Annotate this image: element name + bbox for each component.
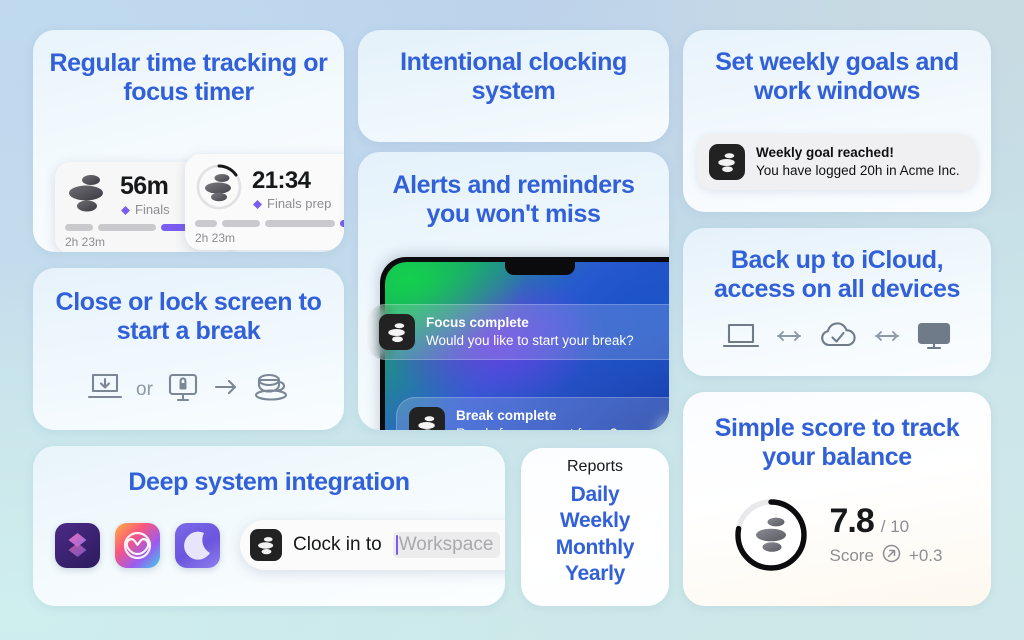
trend-up-icon [882,544,901,568]
card-balance-score: Simple score to track your balance 7 [683,392,991,606]
stones-logo-icon [65,171,111,220]
card-balance-score-title: Simple score to track your balance [695,414,979,472]
score-row: 7.8 / 10 Score +0.3 [683,496,991,574]
report-item-monthly[interactable]: Monthly [521,535,669,561]
control-center-app-icon[interactable] [115,523,160,568]
score-denominator: / 10 [881,517,909,537]
timer-widget-focus[interactable]: 21:34 Finals prep [185,154,344,250]
notification-body: You have logged 20h in Acme Inc. [756,162,960,179]
card-deep-integration-title: Deep system integration [49,468,489,497]
notification-title: Workspace window ended [768,196,949,212]
card-close-lock-break: Close or lock screen to start a break or [33,268,344,430]
alert-banner-break-complete[interactable]: Break complete Ready for your next focus… [396,397,669,430]
timer-widget-focus-tag: Finals prep [252,196,331,211]
tag-dot-icon [252,198,263,209]
score-label-row: Score +0.3 [830,544,943,568]
score-delta: +0.3 [909,546,943,566]
timer-widget-primary-tag: Finals [120,202,170,217]
card-time-tracking-title: Regular time tracking or focus timer [49,49,328,107]
report-item-weekly[interactable]: Weekly [521,508,669,534]
or-label: or [136,379,153,401]
card-weekly-goals-title: Set weekly goals and work windows [697,48,977,106]
card-time-tracking: Regular time tracking or focus timer [33,30,344,252]
card-icloud-backup-title: Back up to iCloud, access on all devices [695,246,979,304]
cloud-icon-row [683,321,991,356]
arrow-right-icon [213,377,239,402]
alert-body: Would you like to start your break? [426,332,634,349]
laptop-close-icon [87,371,123,408]
clock-in-label: Clock in to [293,534,382,556]
alert-banner-focus-complete[interactable]: Focus complete Would you like to start y… [366,304,669,360]
feature-grid: Regular time tracking or focus timer [0,0,1024,640]
laptop-icon [722,321,760,356]
break-icon-row: or [33,371,344,408]
card-close-lock-break-title: Close or lock screen to start a break [49,288,328,346]
timer-widget-focus-labels: 2h 23m 3m [195,231,344,245]
phone-notch [505,262,575,275]
tag-label: Finals prep [267,196,331,211]
text-caret [396,535,398,555]
report-item-yearly[interactable]: Yearly [521,561,669,587]
workspace-input[interactable]: Workspace [393,532,501,558]
alert-title: Focus complete [426,315,634,332]
notification-stack: Workspace window ended It's 7:00 PM — ti… [697,134,977,190]
score-ring [732,496,810,574]
shortcuts-app-icon[interactable] [55,523,100,568]
tag-dot-icon [120,204,131,215]
app-stones-icon [250,529,282,561]
card-alerts-reminders: Alerts and reminders you won't miss Focu… [358,152,669,430]
timer-widget-focus-bars [195,220,344,227]
sync-arrows-icon [776,327,802,350]
card-weekly-goals: Set weekly goals and work windows Worksp… [683,30,991,212]
app-stones-icon [379,314,415,350]
score-values: 7.8 / 10 Score +0.3 [830,502,943,568]
notification-weekly-goal[interactable]: Weekly goal reached! You have logged 20h… [697,134,977,190]
phone-mockup: Focus complete Would you like to start y… [380,257,669,430]
timer-widget-focus-time: 21:34 [252,169,331,193]
desktop-icon [916,321,952,356]
coffee-cup-icon [252,371,290,408]
score-value: 7.8 [830,502,874,541]
app-stones-icon [725,197,757,212]
timer-total-label: 2h 23m [195,231,235,245]
card-intentional-clocking: Intentional clocking system [358,30,669,142]
alert-body: Ready for your next focus? [456,425,617,430]
tag-label: Finals [135,202,170,217]
app-stones-icon [409,407,445,430]
score-label: Score [830,546,874,566]
focus-moon-app-icon[interactable] [175,523,220,568]
score-value-row: 7.8 / 10 [830,502,943,541]
sync-arrows-icon [874,327,900,350]
reports-list: Daily Weekly Monthly Yearly [521,482,669,588]
timer-total-label: 2h 23m [65,235,105,249]
timer-widget-primary-time: 56m [120,174,170,199]
card-reports: Reports Daily Weekly Monthly Yearly [521,448,669,606]
app-stones-icon [709,144,745,180]
focus-ring-stones-icon [195,163,243,216]
alert-title: Break complete [456,408,617,425]
workspace-input-placeholder: Workspace [399,534,494,556]
clock-in-bar[interactable]: Clock in to Workspace [240,520,505,570]
card-deep-integration: Deep system integration [33,446,505,606]
deep-integration-row: Clock in to Workspace [55,520,505,570]
card-icloud-backup: Back up to iCloud, access on all devices [683,228,991,376]
card-intentional-clocking-title: Intentional clocking system [376,48,651,106]
reports-heading: Reports [521,458,669,476]
cloud-check-icon [818,321,858,356]
card-alerts-reminders-title: Alerts and reminders you won't miss [372,171,655,229]
lock-screen-icon [166,371,200,408]
timer-widgets: 56m Finals 2h 23m [33,152,344,252]
report-item-daily[interactable]: Daily [521,482,669,508]
notification-title: Weekly goal reached! [756,145,960,162]
